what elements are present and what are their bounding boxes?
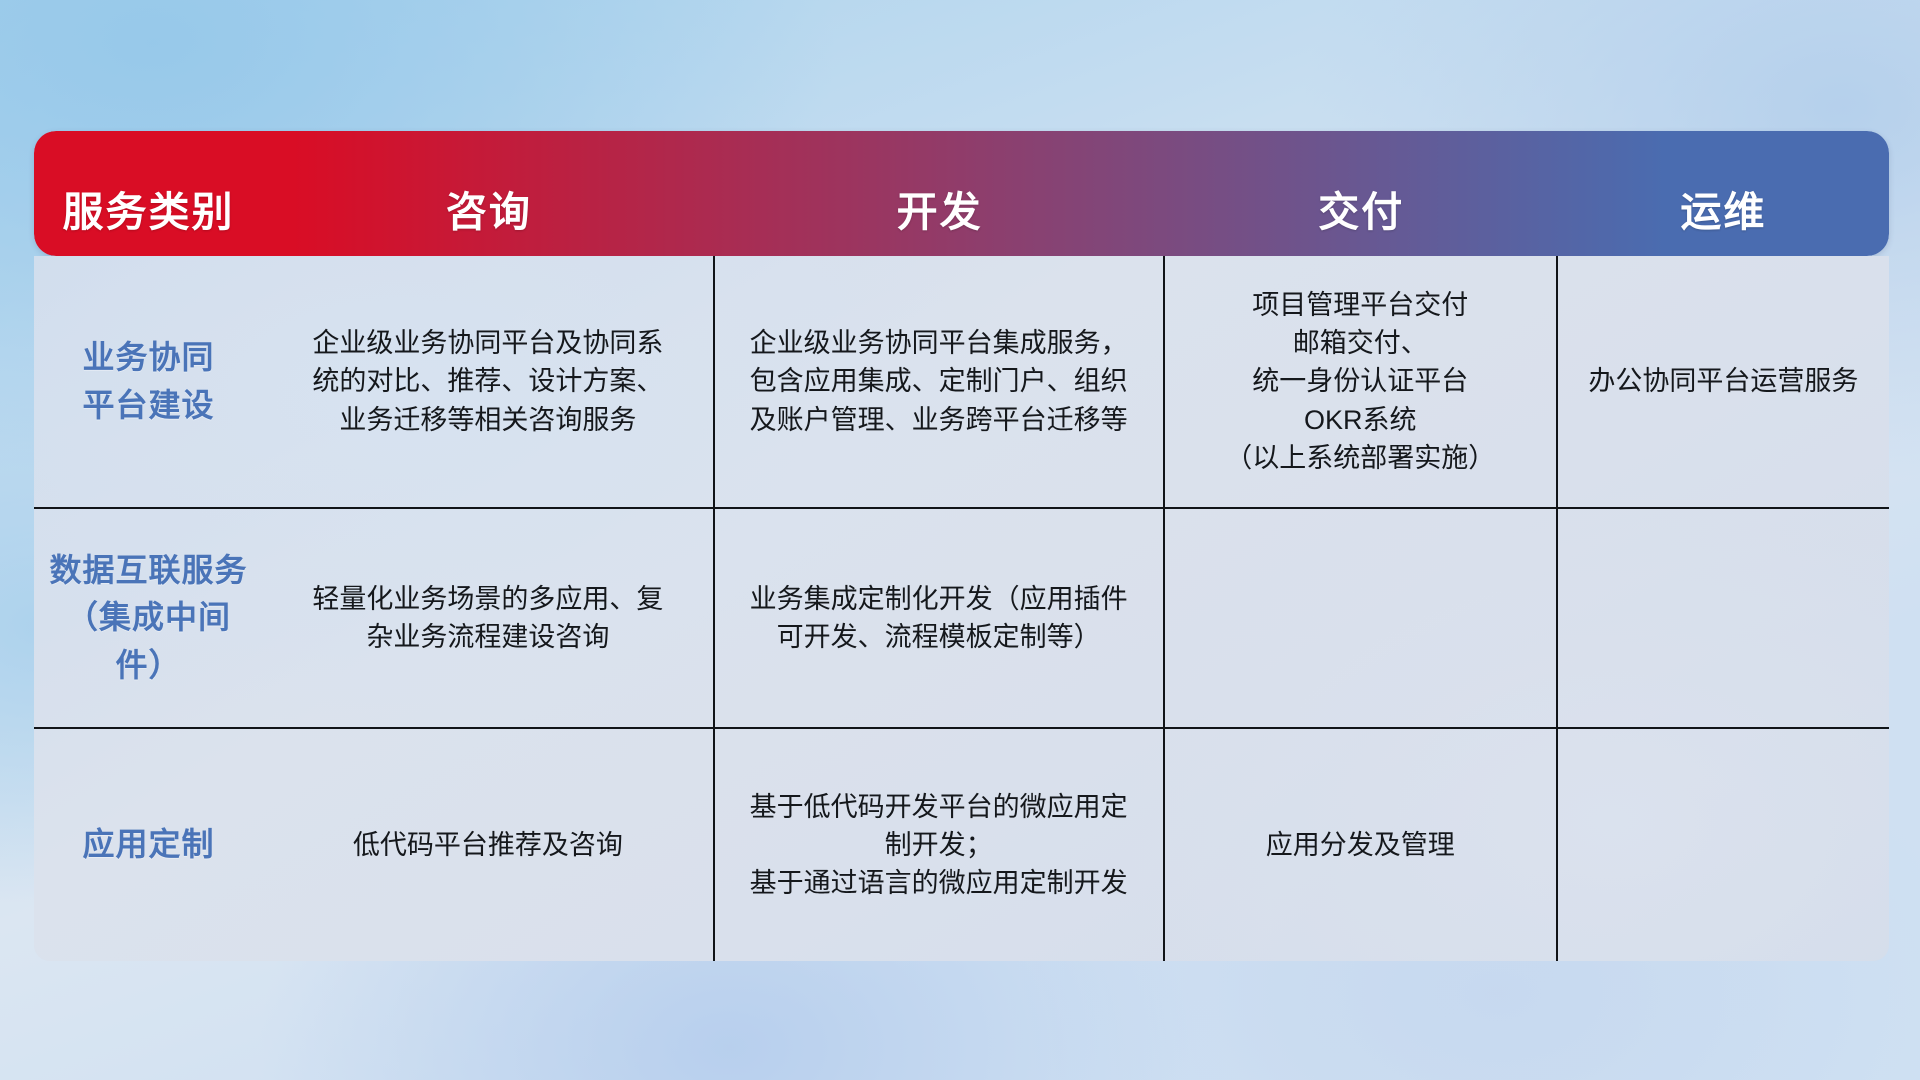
service-category-table: 服务类别 咨询 开发 交付 运维 业务协同 平台建设 企业级业务协同平台及协同系… — [34, 131, 1889, 961]
cell-category: 数据互联服务 （集成中间件） — [34, 509, 263, 727]
table-row: 数据互联服务 （集成中间件） 轻量化业务场景的多应用、复 杂业务流程建设咨询 业… — [34, 509, 1889, 729]
header-cell-delivery: 交付 — [1165, 131, 1558, 256]
header-label-development: 开发 — [897, 178, 983, 238]
cell-delivery — [1165, 509, 1558, 727]
cell-delivery: 应用分发及管理 — [1165, 729, 1558, 961]
header-label-delivery: 交付 — [1318, 178, 1404, 238]
cell-consulting: 企业级业务协同平台及协同系 统的对比、推荐、设计方案、 业务迁移等相关咨询服务 — [263, 256, 715, 507]
cell-category: 应用定制 — [34, 729, 263, 961]
table-body: 业务协同 平台建设 企业级业务协同平台及协同系 统的对比、推荐、设计方案、 业务… — [34, 256, 1889, 961]
header-cell-development: 开发 — [715, 131, 1165, 256]
cell-consulting: 低代码平台推荐及咨询 — [263, 729, 715, 961]
cell-operations: 办公协同平台运营服务 — [1558, 256, 1889, 507]
cell-consulting: 轻量化业务场景的多应用、复 杂业务流程建设咨询 — [263, 509, 715, 727]
cell-development: 业务集成定制化开发（应用插件 可开发、流程模板定制等） — [715, 509, 1165, 727]
header-label-service-category: 服务类别 — [63, 178, 235, 238]
header-label-operations: 运维 — [1680, 178, 1766, 238]
table-row: 应用定制 低代码平台推荐及咨询 基于低代码开发平台的微应用定 制开发； 基于通过… — [34, 729, 1889, 961]
cell-operations — [1558, 509, 1889, 727]
header-label-consulting: 咨询 — [446, 178, 532, 238]
header-cell-operations: 运维 — [1558, 131, 1889, 256]
cell-development: 企业级业务协同平台集成服务， 包含应用集成、定制门户、组织 及账户管理、业务跨平… — [715, 256, 1165, 507]
table-header-row: 服务类别 咨询 开发 交付 运维 — [34, 131, 1889, 256]
header-cell-consulting: 咨询 — [263, 131, 715, 256]
header-cell-service-category: 服务类别 — [34, 131, 263, 256]
cell-operations — [1558, 729, 1889, 961]
cell-development: 基于低代码开发平台的微应用定 制开发； 基于通过语言的微应用定制开发 — [715, 729, 1165, 961]
cell-delivery: 项目管理平台交付 邮箱交付、 统一身份认证平台 OKR系统 （以上系统部署实施） — [1165, 256, 1558, 507]
table-row: 业务协同 平台建设 企业级业务协同平台及协同系 统的对比、推荐、设计方案、 业务… — [34, 256, 1889, 509]
cell-category: 业务协同 平台建设 — [34, 256, 263, 507]
